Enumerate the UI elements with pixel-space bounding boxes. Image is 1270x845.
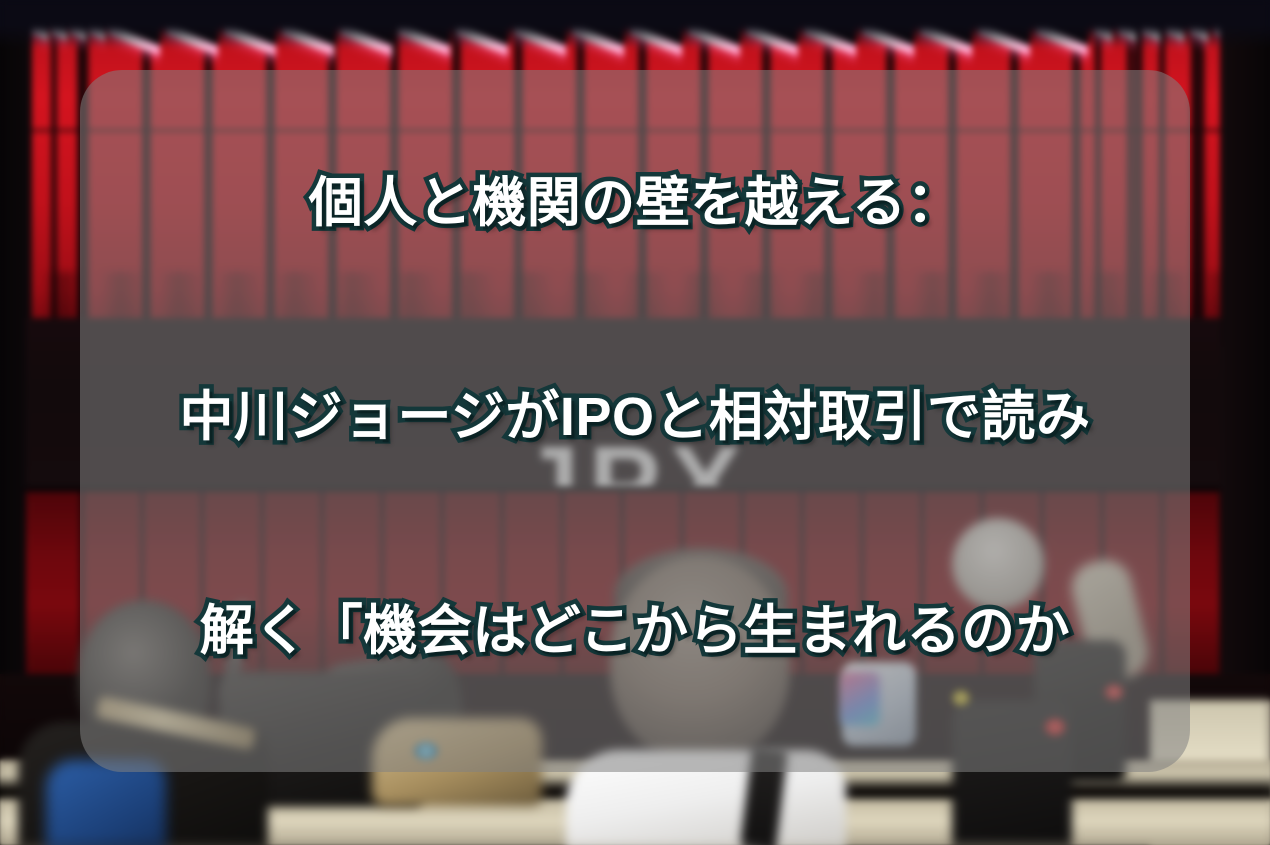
title-block: 個人と機関の壁を越える： 中川ジョージがIPOと相対取引で読み 解く「機会はどこ… [80,70,1190,772]
banner-highlight-tip [32,14,48,118]
banner-highlight-tip [51,14,67,118]
title-line-1: 個人と機関の壁を越える： [90,172,1180,235]
thumbnail-canvas: JPX TOKYO STOCK EXCHANGE [0,0,1270,845]
photographer-left-blue-bag [46,760,166,845]
banner-highlight-tip [1190,14,1208,118]
title-line-3: 解く「機会はどこから生まれるのか [90,600,1180,663]
banner-highlight-tip [1214,14,1220,118]
title-line-2: 中川ジョージがIPOと相対取引で読み [90,386,1180,449]
